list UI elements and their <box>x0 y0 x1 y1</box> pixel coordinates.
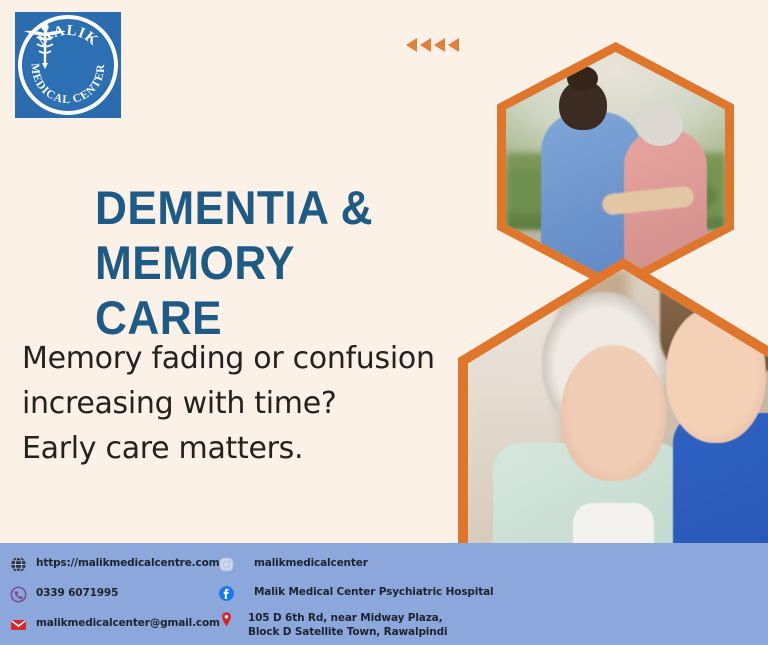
headline-line-2: MEMORY CARE <box>95 235 405 345</box>
triangle-left-icon <box>434 38 445 52</box>
contact-instagram-text: malikmedicalcenter <box>244 556 368 570</box>
subheadline-line-2: increasing with time? <box>22 381 442 426</box>
contact-phone[interactable]: 0339 6071995 <box>10 586 118 603</box>
subheadline: Memory fading or confusion increasing wi… <box>22 336 442 471</box>
contact-facebook[interactable]: Malik Medical Center Psychiatric Hospita… <box>218 585 493 602</box>
subheadline-line-3: Early care matters. <box>22 426 442 471</box>
globe-icon <box>10 556 27 573</box>
email-icon <box>10 616 27 633</box>
logo-ring: MALIK MEDICAL CENTER <box>18 15 118 115</box>
subheadline-line-1: Memory fading or confusion <box>22 336 442 381</box>
contact-website-text: https://malikmedicalcentre.com <box>36 556 219 570</box>
contact-address-text: 105 D 6th Rd, near Midway Plaza, Block D… <box>244 611 463 639</box>
photo-caregiver-walking-image <box>506 52 725 282</box>
instagram-icon <box>218 556 235 573</box>
location-icon <box>218 611 235 628</box>
triangle-left-icon <box>406 38 417 52</box>
triangle-left-icon <box>420 38 431 52</box>
phone-icon <box>10 586 27 603</box>
photo-caregiver-walking <box>497 42 734 292</box>
contact-website[interactable]: https://malikmedicalcentre.com <box>10 556 219 573</box>
arrow-decoration <box>406 38 459 52</box>
contact-address[interactable]: 105 D 6th Rd, near Midway Plaza, Block D… <box>218 611 463 639</box>
logo: MALIK MEDICAL CENTER <box>15 12 121 118</box>
triangle-left-icon <box>448 38 459 52</box>
facebook-icon <box>218 585 235 602</box>
page-title: DEMENTIA & MEMORY CARE <box>95 180 405 345</box>
contact-instagram[interactable]: malikmedicalcenter <box>218 556 368 573</box>
contact-email[interactable]: malikmedicalcenter@gmail.com <box>10 616 220 633</box>
contact-email-text: malikmedicalcenter@gmail.com <box>36 616 220 630</box>
contact-facebook-text: Malik Medical Center Psychiatric Hospita… <box>244 585 493 599</box>
footer-contact-bar: https://malikmedicalcentre.com 0339 6071… <box>0 543 768 645</box>
contact-phone-text: 0339 6071995 <box>36 586 118 600</box>
caduceus-icon <box>22 19 68 71</box>
headline-line-1: DEMENTIA & <box>95 181 373 234</box>
poster-canvas: MALIK MEDICAL CENTER <box>0 0 768 645</box>
